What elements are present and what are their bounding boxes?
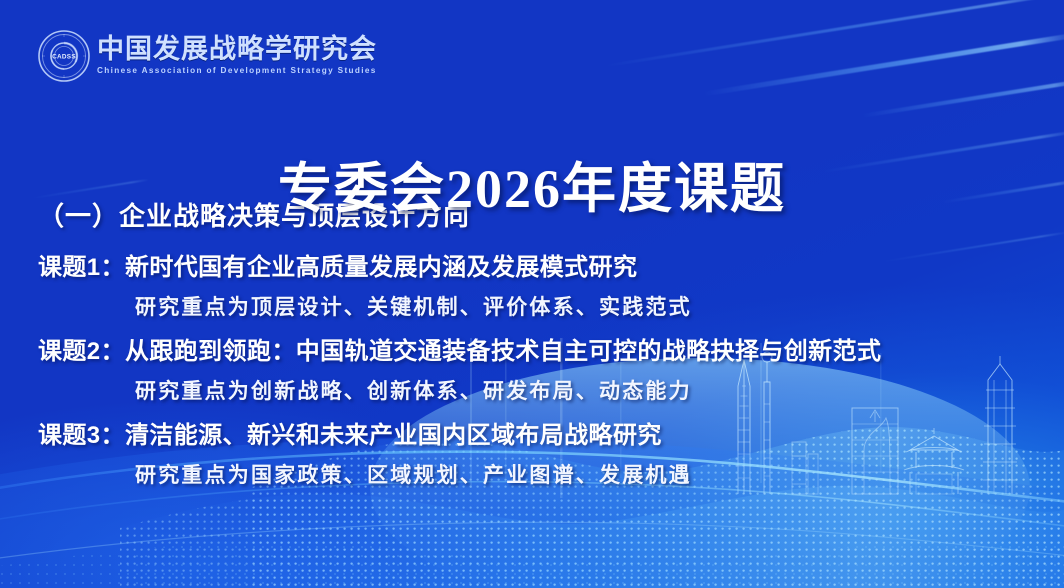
slide-content: （一）企业战略决策与顶层设计方向 课题1：新时代国有企业高质量发展内涵及发展模式… xyxy=(0,196,1064,489)
presentation-slide: CADSS 中国发展战略学研究会 Chinese Association of … xyxy=(0,0,1064,588)
logo-text-block: 中国发展战略学研究会 Chinese Association of Develo… xyxy=(97,36,377,75)
topic-2-label: 课题2：从跟跑到领跑：中国轨道交通装备技术自主可控的战略抉择与创新范式 xyxy=(38,331,1064,366)
org-name-en: Chinese Association of Development Strat… xyxy=(97,67,377,75)
slide-title: 专委会2026年度课题 xyxy=(0,144,1064,223)
topic-1-focus: 研究重点为顶层设计、关键机制、评价体系、实践范式 xyxy=(135,291,1064,321)
org-name-cn: 中国发展战略学研究会 xyxy=(97,36,377,63)
topic-3-label: 课题3：清洁能源、新兴和未来产业国内区域布局战略研究 xyxy=(38,415,1064,450)
topic-1-label: 课题1：新时代国有企业高质量发展内涵及发展模式研究 xyxy=(38,247,1064,282)
organization-logo: CADSS 中国发展战略学研究会 Chinese Association of … xyxy=(38,30,377,82)
topic-2-focus: 研究重点为创新战略、创新体系、研发布局、动态能力 xyxy=(135,375,1064,405)
topic-3-focus: 研究重点为国家政策、区域规划、产业图谱、发展机遇 xyxy=(135,459,1064,489)
seal-abbr-text: CADSS xyxy=(52,54,76,61)
cadss-seal-icon: CADSS xyxy=(38,30,90,82)
